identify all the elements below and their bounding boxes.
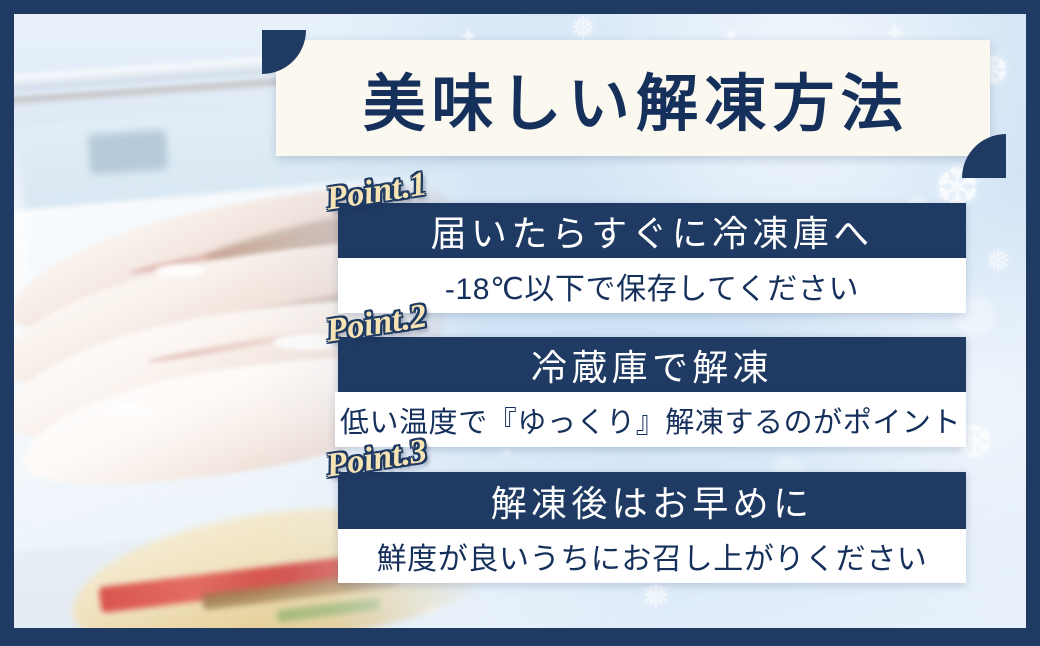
snowflake-icon: ❅ [986, 247, 1011, 277]
point-subtext-3: 鮮度が良いうちにお召し上がりください [338, 529, 966, 583]
point-block-3: Point.3 解凍後はお早めに 鮮度が良いうちにお召し上がりください [338, 472, 966, 529]
ice-frost [108, 404, 152, 416]
point-block-2: Point.2 冷蔵庫で解凍 低い温度で『ゆっくり』解凍するのがポイント [338, 337, 966, 392]
snowflake-icon: ❅ [641, 579, 670, 613]
frame-border-top [0, 0, 1040, 14]
frame-border-right [1026, 0, 1040, 646]
frame-border-bottom [0, 628, 1040, 646]
point-subtext-2: 低い温度で『ゆっくり』解凍するのがポイント [335, 392, 966, 447]
freezer-drawer-handle [88, 129, 169, 174]
infographic-canvas: ❆ ❅ ✦ ✦ ❅ ✦ ✦ ❆ ❆ ❅ ✦ ❆ ✦ ❅ ✦ ❅ ✦ ✦ [0, 0, 1040, 646]
point-heading-1: 届いたらすぐに冷凍庫へ [338, 203, 966, 258]
frame-border-left [0, 0, 14, 646]
page-title: 美味しい解凍方法 [276, 40, 990, 156]
title-box: 美味しい解凍方法 [276, 40, 990, 156]
point-block-1: Point.1 届いたらすぐに冷凍庫へ -18℃以下で保存してください [338, 203, 966, 258]
ice-frost [155, 264, 205, 278]
title-banner: 美味しい解凍方法 [276, 40, 990, 156]
point-heading-3: 解凍後はお早めに [338, 472, 966, 529]
point-subtext-1: -18℃以下で保存してください [338, 258, 966, 313]
point-heading-2: 冷蔵庫で解凍 [338, 337, 966, 392]
